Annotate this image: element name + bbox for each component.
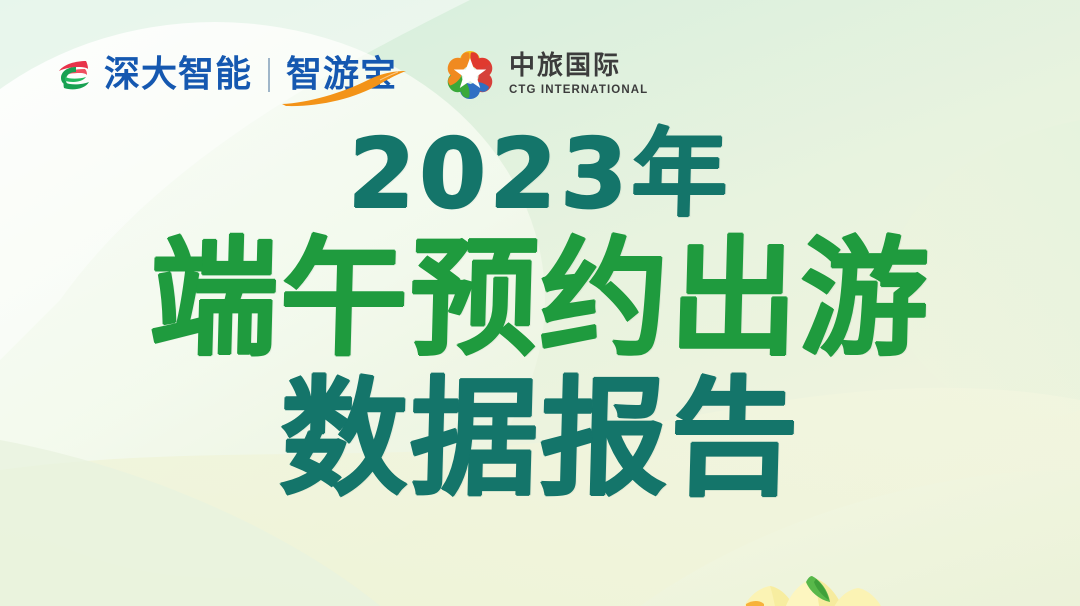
poster-canvas: 深大智能 智游宝 xyxy=(0,0,1080,606)
ctg-wordmark: 中旅国际 CTG INTERNATIONAL xyxy=(509,53,648,97)
shenda-wordmark: 深大智能 xyxy=(104,57,252,93)
ctg-logo[interactable]: 中旅国际 CTG INTERNATIONAL xyxy=(443,48,648,102)
zhiyoubao-wordmark: 智游宝 xyxy=(286,54,397,95)
logo-divider xyxy=(268,58,270,92)
ctg-name-en: CTG INTERNATIONAL xyxy=(509,85,648,97)
zongzi-illustration xyxy=(724,552,914,606)
ctg-name-cn: 中旅国际 xyxy=(509,53,648,79)
shenda-logo[interactable]: 深大智能 xyxy=(54,55,252,95)
zhiyoubao-logo[interactable]: 智游宝 xyxy=(286,57,397,93)
headline-block: 2023年 端午预约出游 数据报告 xyxy=(0,126,1080,504)
ctg-star-flower-mark xyxy=(443,48,497,102)
headline-year: 2023年 xyxy=(0,126,1080,222)
logo-bar: 深大智能 智游宝 xyxy=(54,44,648,106)
headline-main: 端午预约出游 xyxy=(0,236,1080,364)
headline-sub: 数据报告 xyxy=(0,376,1080,504)
shenda-s-mark xyxy=(54,55,94,95)
